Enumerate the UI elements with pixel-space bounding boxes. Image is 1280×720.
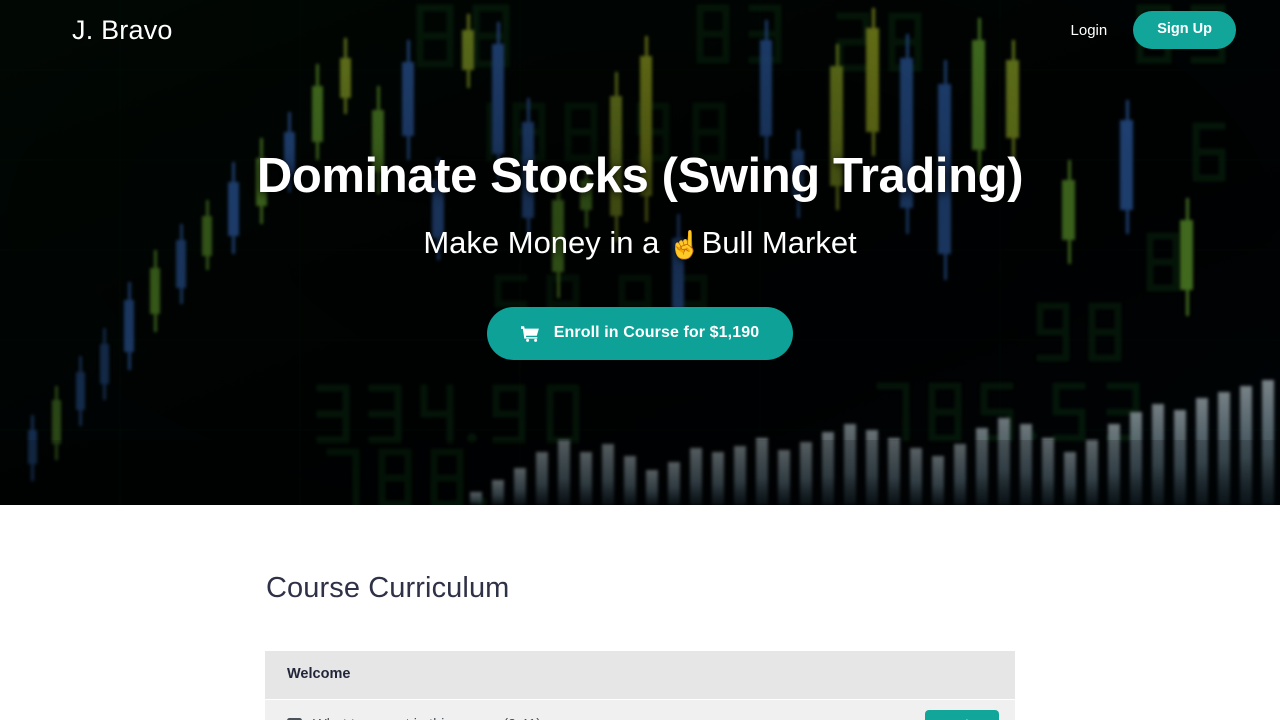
hero-subtitle-text-before: Make Money in a — [423, 225, 668, 260]
sign-up-button[interactable]: Sign Up — [1133, 11, 1236, 49]
curriculum-section-title: Welcome — [265, 651, 1015, 699]
pointing-up-emoji-icon: ☝️ — [668, 230, 702, 261]
course-curriculum-heading: Course Curriculum — [265, 571, 1015, 606]
hero-content: Dominate Stocks (Swing Trading) Make Mon… — [0, 0, 1280, 505]
enroll-in-course-button[interactable]: Enroll in Course for $1,190 — [487, 307, 793, 360]
content-container: Course Curriculum Welcome What to expect… — [265, 571, 1015, 720]
hero-cta-wrapper: Enroll in Course for $1,190 — [487, 307, 793, 360]
hero-section: J. Bravo Login Sign Up Dominate Stocks (… — [0, 0, 1280, 505]
lesson-preview-button[interactable]: Preview — [925, 710, 999, 720]
login-link[interactable]: Login — [1071, 22, 1108, 39]
top-navigation-bar: J. Bravo Login Sign Up — [0, 0, 1280, 60]
hero-subtitle: Make Money in a ☝️Bull Market — [423, 224, 856, 263]
nav-right-group: Login Sign Up — [1071, 11, 1236, 49]
enroll-button-label: Enroll in Course for $1,190 — [554, 324, 759, 342]
main-content: Course Curriculum Welcome What to expect… — [0, 505, 1280, 720]
curriculum-list: Welcome What to expect in this course (2… — [265, 651, 1015, 720]
hero-title: Dominate Stocks (Swing Trading) — [257, 148, 1023, 205]
lesson-row[interactable]: What to expect in this course (2:41) Pre… — [265, 699, 1015, 720]
hero-subtitle-text-after: Bull Market — [702, 225, 857, 260]
shopping-cart-icon — [521, 325, 540, 342]
site-brand-logo[interactable]: J. Bravo — [72, 17, 173, 44]
